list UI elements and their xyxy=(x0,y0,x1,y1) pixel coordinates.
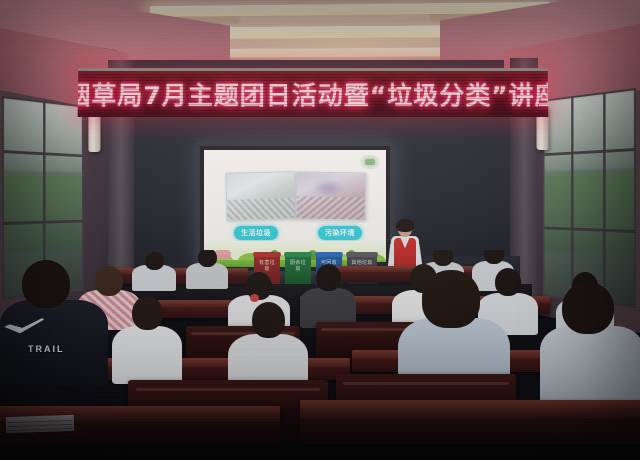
attendee-front-b xyxy=(112,296,182,380)
attendee-front-left: TRAIL xyxy=(0,260,108,380)
attendee-head xyxy=(422,270,480,328)
led-banner: 烟草局7月主题团日活动暨“垃圾分类”讲座 xyxy=(78,68,549,117)
slide-photo-left xyxy=(225,171,296,221)
attendee-head xyxy=(562,282,614,334)
foreground-shadow xyxy=(0,398,640,460)
slide-caption-left: 生活垃圾 xyxy=(234,226,278,240)
attendee-head xyxy=(132,296,163,330)
attendee-head xyxy=(145,252,164,270)
attendee-back-row-b xyxy=(186,250,228,286)
window-sky xyxy=(544,90,634,171)
eco-logo-icon xyxy=(359,154,381,170)
attendee-head xyxy=(22,260,70,308)
window-foliage xyxy=(544,172,634,258)
shirt-logo-text: TRAIL xyxy=(28,344,65,354)
presenter-hair xyxy=(396,219,414,232)
audience-seating-area: TRAIL xyxy=(0,250,640,460)
slide-caption-right: 污染环境 xyxy=(318,226,362,240)
led-banner-text: 烟草局7月主题团日活动暨“垃圾分类”讲座 xyxy=(78,76,549,112)
attendee-head xyxy=(198,250,217,267)
slide-photo-right xyxy=(296,171,367,220)
attendee-front-c xyxy=(228,302,308,392)
attendee-head xyxy=(316,264,341,291)
attendee-front-right xyxy=(540,282,640,402)
attendee-dark-left xyxy=(300,264,356,322)
attendee-body xyxy=(0,300,108,386)
attendee-head xyxy=(252,302,285,338)
attendee-body xyxy=(112,326,182,384)
attendee-red-accessory xyxy=(250,294,259,302)
lecture-hall-photo: 烟草局7月主题团日活动暨“垃圾分类”讲座 生活垃圾 污染环境 xyxy=(0,0,640,460)
